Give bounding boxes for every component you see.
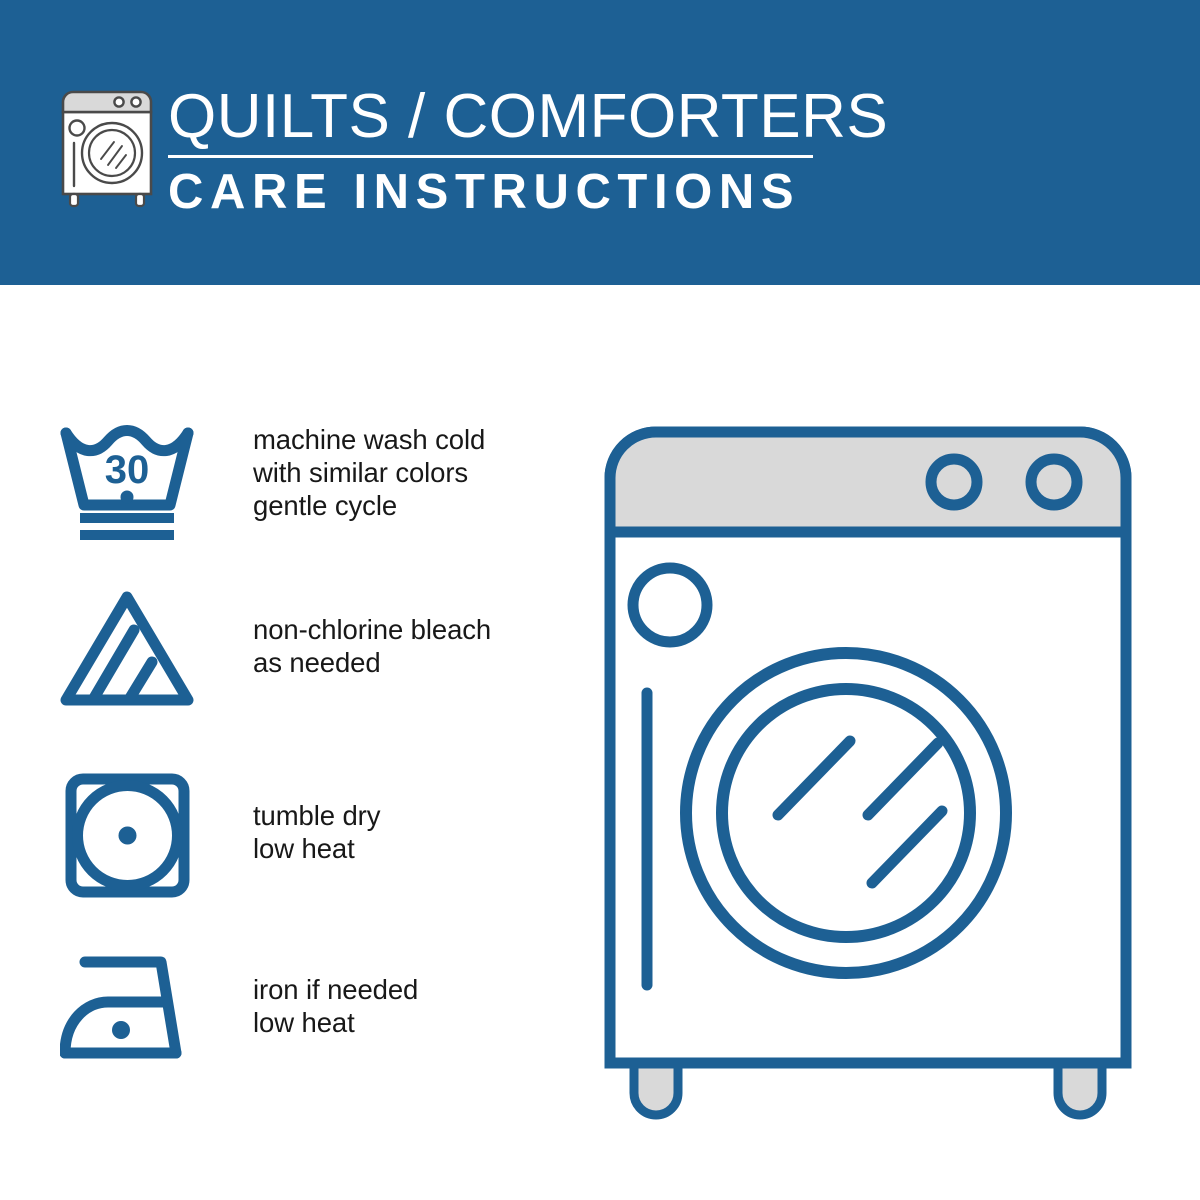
non-chlorine-bleach-icon bbox=[60, 585, 200, 715]
washing-machine-icon bbox=[54, 83, 160, 208]
care-label-line: iron if needed bbox=[253, 973, 533, 1006]
care-label: iron if needed low heat bbox=[253, 973, 533, 1039]
front-load-washing-machine-illustration bbox=[596, 405, 1156, 1125]
header-title-block: QUILTS / COMFORTERS CARE INSTRUCTIONS bbox=[168, 82, 828, 220]
care-label: tumble dry low heat bbox=[253, 799, 533, 865]
care-label-line: low heat bbox=[253, 1006, 533, 1039]
care-label-line: as needed bbox=[253, 646, 533, 679]
care-label: machine wash cold with similar colors ge… bbox=[253, 423, 533, 522]
control-panel bbox=[610, 432, 1126, 532]
tumble-dry-low-icon bbox=[60, 771, 200, 901]
care-row: iron if needed low heat bbox=[0, 945, 540, 1120]
machine-wash-30-gentle-icon: 30 bbox=[60, 411, 200, 541]
care-row: tumble dry low heat bbox=[0, 771, 540, 946]
care-label-line: tumble dry bbox=[253, 799, 533, 832]
iron-low-heat-icon bbox=[60, 945, 200, 1075]
page-header: QUILTS / COMFORTERS CARE INSTRUCTIONS bbox=[0, 0, 1200, 285]
care-label: non-chlorine bleach as needed bbox=[253, 613, 533, 679]
care-instructions-page: QUILTS / COMFORTERS CARE INSTRUCTIONS bbox=[0, 0, 1200, 1200]
care-label-line: gentle cycle bbox=[253, 489, 533, 522]
care-label-line: machine wash cold bbox=[253, 423, 533, 456]
care-label-line: non-chlorine bleach bbox=[253, 613, 533, 646]
care-row: non-chlorine bleach as needed bbox=[0, 585, 540, 760]
care-label-line: low heat bbox=[253, 832, 533, 865]
title-divider bbox=[168, 155, 813, 158]
page-subtitle: CARE INSTRUCTIONS bbox=[168, 164, 828, 220]
care-label-line: with similar colors bbox=[253, 456, 533, 489]
care-row: 30 machine wash cold with similar colors… bbox=[0, 411, 540, 586]
page-title: QUILTS / COMFORTERS bbox=[168, 82, 828, 152]
wash-temp-value: 30 bbox=[105, 448, 150, 492]
